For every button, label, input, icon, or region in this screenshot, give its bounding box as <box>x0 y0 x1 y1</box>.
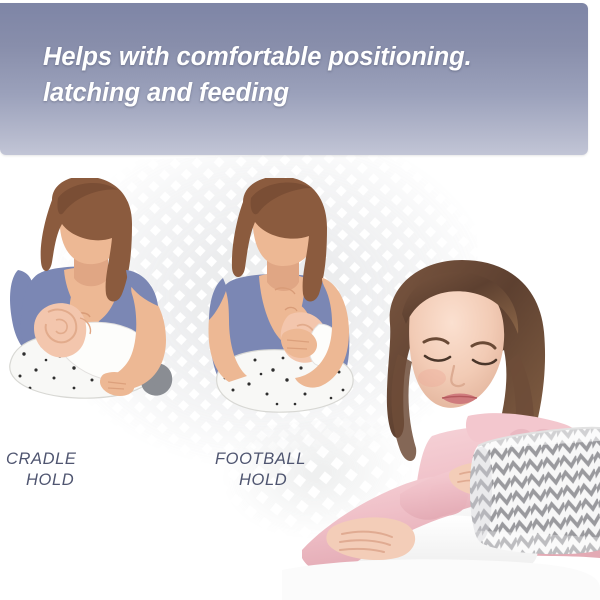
cradle-hold-illustration <box>8 178 178 426</box>
headline-banner: Helps with comfortable positioning. latc… <box>0 3 588 155</box>
headline-line-1: Helps with comfortable positioning. <box>43 39 563 75</box>
cradle-hold-label-line-1: CRADLE <box>6 450 77 468</box>
nursing-mother-photo <box>282 258 600 600</box>
product-infographic: Helps with comfortable positioning. latc… <box>0 0 600 600</box>
headline-text: Helps with comfortable positioning. latc… <box>43 39 563 111</box>
cradle-hold-label-line-2: HOLD <box>6 470 156 491</box>
headline-line-2: latching and feeding <box>43 75 563 111</box>
cradle-hold-label: CRADLE HOLD <box>6 428 156 512</box>
